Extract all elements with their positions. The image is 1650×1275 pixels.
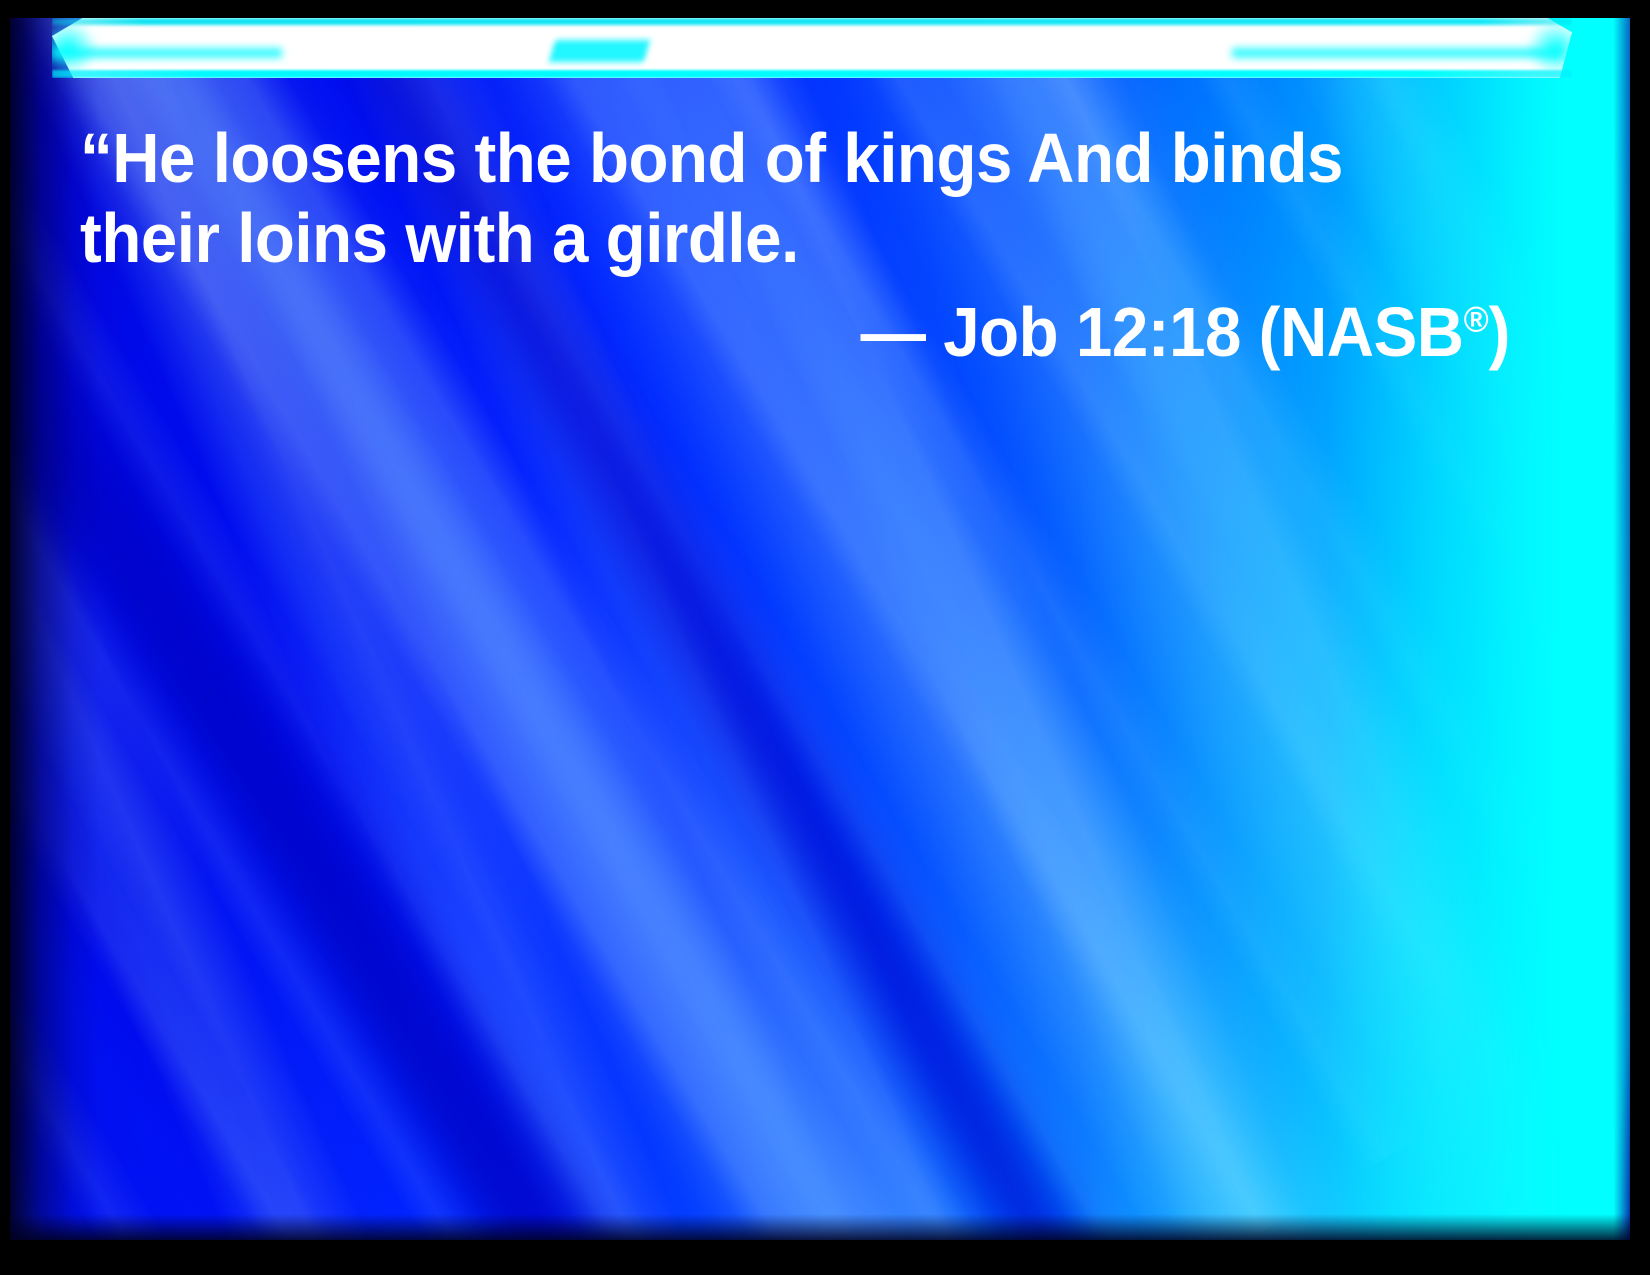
banner-cyan-notch (549, 40, 650, 62)
registered-trademark-icon: ® (1464, 299, 1489, 340)
verse-line-2: their loins with a girdle. (80, 198, 1417, 278)
verse-reference-close-paren: ) (1489, 293, 1510, 371)
banner-glow-right (1526, 20, 1572, 76)
verse-text-block: “He loosens the bond of kings And binds … (80, 118, 1510, 372)
banner-cyan-bottom-edge (52, 70, 1572, 78)
background-bottom-vignette (10, 1214, 1630, 1240)
banner-glow-left (52, 20, 98, 76)
banner-cyan-streak-right (1232, 48, 1562, 58)
verse-slide: “He loosens the bond of kings And binds … (0, 0, 1650, 1275)
verse-reference: — Job 12:18 (NASB®) (173, 292, 1510, 372)
banner-cyan-top-edge (52, 18, 1572, 25)
verse-line-1: “He loosens the bond of kings And binds (80, 118, 1417, 198)
top-banner (52, 18, 1572, 78)
verse-reference-text: — Job 12:18 (NASB (861, 293, 1464, 371)
